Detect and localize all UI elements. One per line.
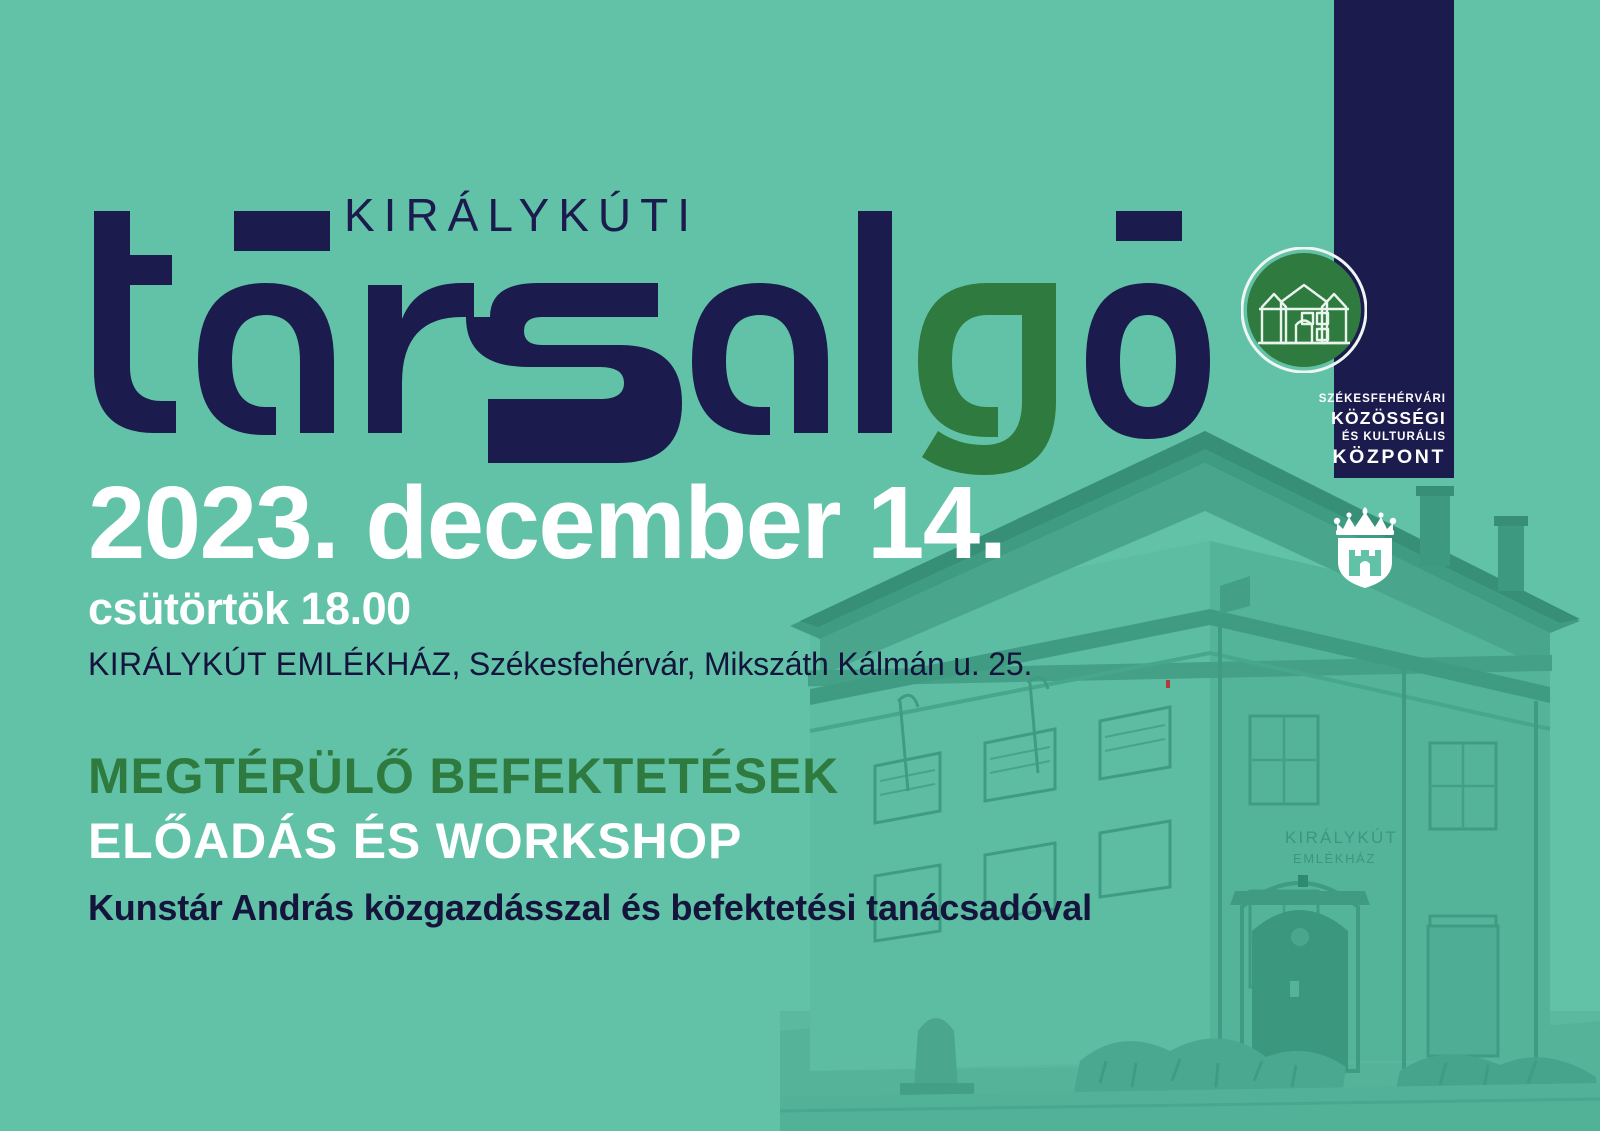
event-day-time: csütörtök 18.00 [88,585,1268,632]
building-inscription-line2: EMLÉKHÁZ [1293,851,1376,866]
program-title: MEGTÉRÜLŐ BEFEKTETÉSEK [88,747,1268,806]
program-subtitle: ELŐADÁS ÉS WORKSHOP [88,812,1268,871]
tarsalgo-logotype: KIRÁLYKÚTI [86,185,1206,445]
house-emblem-icon [1241,247,1367,373]
organizer-line-3: ÉS KULTURÁLIS [1300,429,1446,446]
red-marker-dot [1166,680,1170,688]
event-poster: KIRÁLYKÚT EMLÉKHÁZ [0,0,1600,1131]
organizer-line-2: KÖZÖSSÉGI [1300,408,1446,430]
organizer-line-4: KÖZPONT [1300,446,1446,469]
organizer-wordmark: SZÉKESFEHÉRVÁRI KÖZÖSSÉGI ÉS KULTURÁLIS … [1300,392,1446,469]
venue-address: , Székesfehérvár, Mikszáth Kálmán u. 25. [451,646,1032,682]
building-inscription-line1: KIRÁLYKÚT [1285,828,1398,847]
event-venue: KIRÁLYKÚT EMLÉKHÁZ, Székesfehérvár, Miks… [88,646,1268,683]
city-coat-of-arms-icon [1325,504,1405,589]
venue-name: KIRÁLYKÚT EMLÉKHÁZ [88,646,451,682]
organizer-line-1: SZÉKESFEHÉRVÁRI [1300,392,1446,408]
event-date: 2023. december 14. [88,470,1268,575]
poster-text-block: 2023. december 14. csütörtök 18.00 KIRÁL… [88,470,1268,929]
logo-kicker: KIRÁLYKÚTI [344,189,699,241]
program-presenter: Kunstár András közgazdásszal és befektet… [88,887,1268,929]
